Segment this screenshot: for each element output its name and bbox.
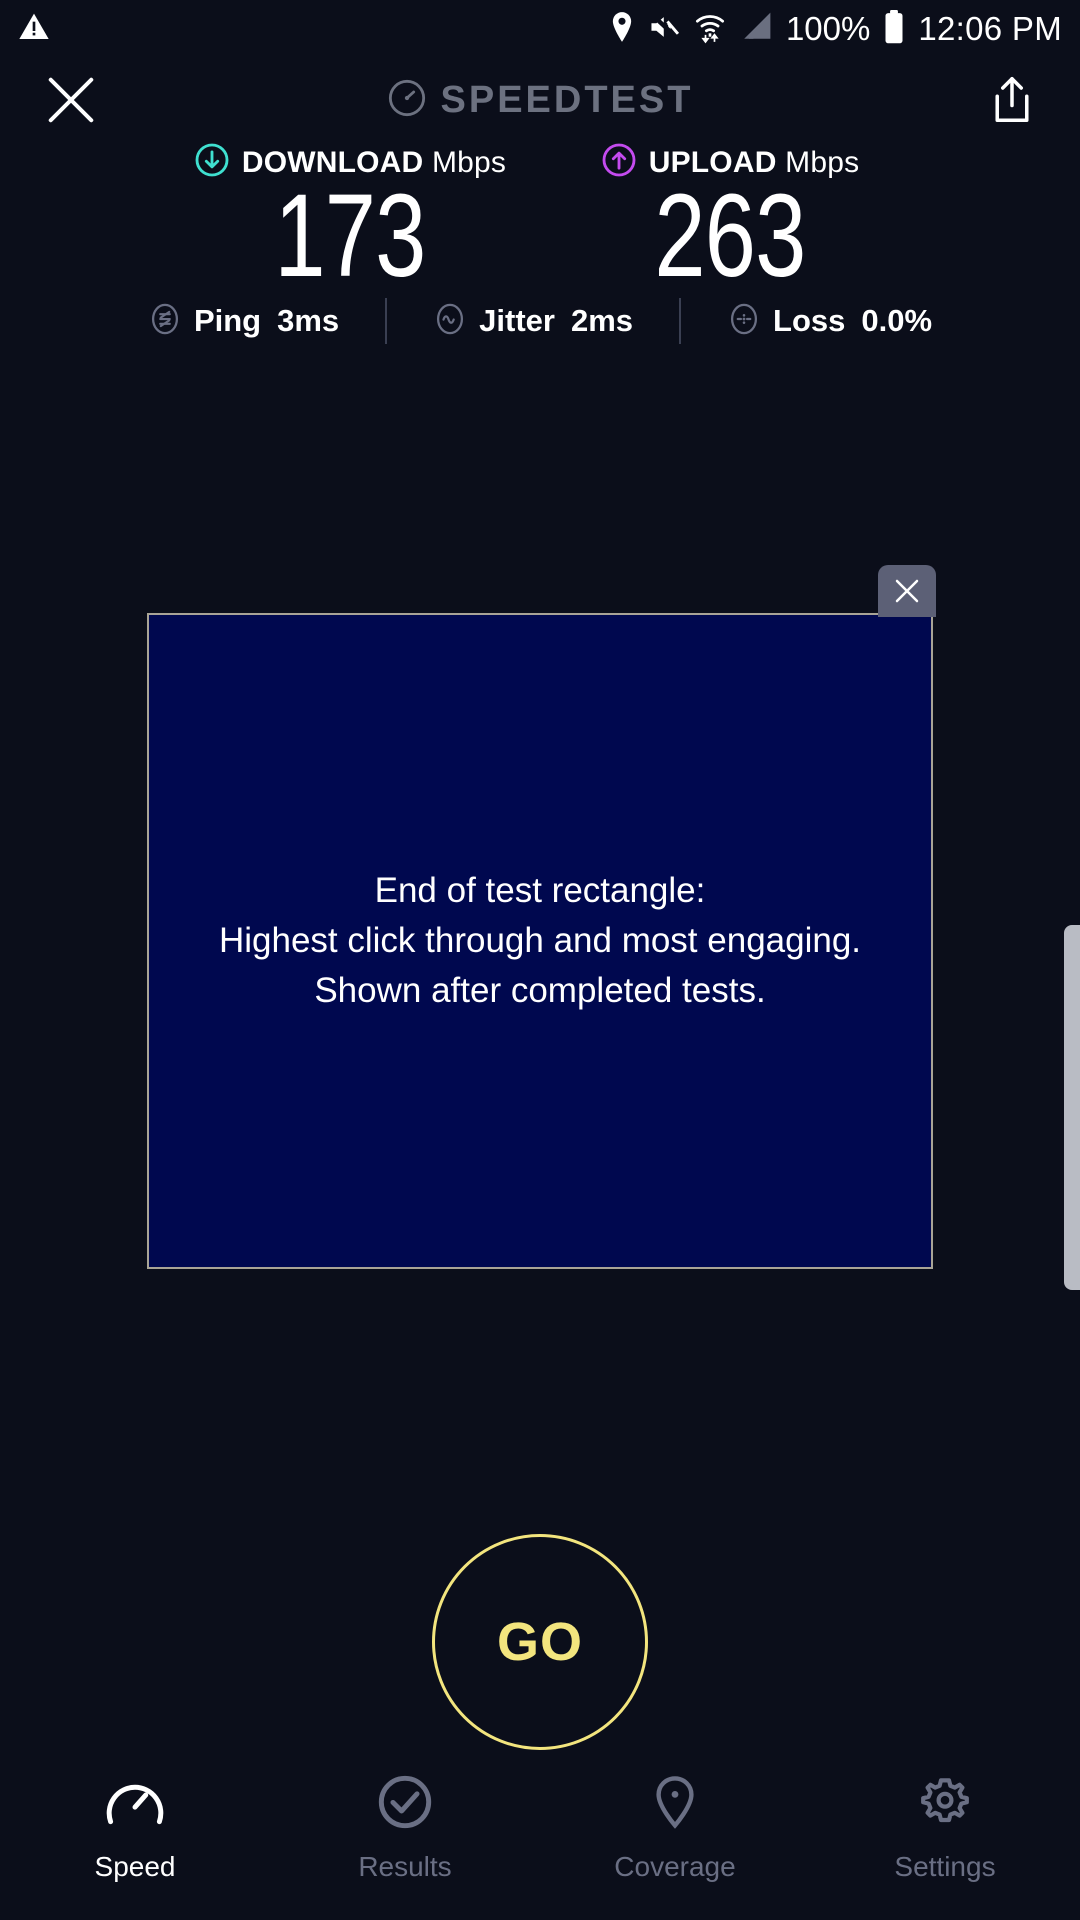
tab-settings[interactable]: Settings <box>810 1774 1080 1883</box>
arrow-up-circle-icon <box>601 142 637 183</box>
status-bar-left <box>18 11 50 48</box>
battery-full-icon <box>883 10 905 49</box>
location-pin-icon <box>608 11 636 48</box>
tab-speed-label: Speed <box>95 1851 176 1883</box>
tab-results-label: Results <box>358 1851 451 1883</box>
upload-value: 263 <box>654 177 805 295</box>
cell-signal-icon <box>739 11 773 48</box>
go-button[interactable]: GO <box>432 1534 648 1750</box>
tab-speed[interactable]: Speed <box>0 1774 270 1883</box>
map-pin-icon <box>644 1774 706 1835</box>
scrollbar-thumb[interactable] <box>1064 925 1080 1290</box>
check-circle-icon <box>374 1774 436 1835</box>
jitter-stat: Jitter 2ms <box>433 302 633 341</box>
ping-icon <box>148 302 182 341</box>
ad-text: End of test rectangle: Highest click thr… <box>165 866 916 1015</box>
loss-icon <box>727 302 761 341</box>
page-title: SPEEDTEST <box>441 79 694 122</box>
upload-metric: UPLOAD Mbps 263 <box>540 142 920 295</box>
tab-settings-label: Settings <box>894 1851 995 1883</box>
jitter-icon <box>433 302 467 341</box>
ad-line-3: Shown after completed tests. <box>165 966 916 1016</box>
loss-value: 0.0% <box>861 303 932 339</box>
bottom-tab-bar: Speed Results Coverage Settings <box>0 1760 1080 1920</box>
download-value: 173 <box>274 177 425 295</box>
jitter-value: 2ms <box>571 303 633 339</box>
stat-divider <box>679 298 681 344</box>
battery-percent: 100% <box>786 10 870 48</box>
download-upload-row: DOWNLOAD Mbps 173 UPLOAD Mbps 263 <box>0 142 1080 295</box>
app-header: SPEEDTEST <box>0 58 1080 142</box>
speedtest-app: 100% 12:06 PM SPEEDTEST <box>0 0 1080 1920</box>
loss-stat: Loss 0.0% <box>727 302 932 341</box>
gear-icon <box>914 1774 976 1835</box>
share-icon <box>991 76 1033 124</box>
jitter-label: Jitter <box>479 303 555 339</box>
app-title-block: SPEEDTEST <box>0 58 1080 142</box>
close-button[interactable] <box>40 69 102 131</box>
wifi-transfer-icon <box>694 10 726 49</box>
status-bar: 100% 12:06 PM <box>0 0 1080 58</box>
results-summary: DOWNLOAD Mbps 173 UPLOAD Mbps 263 <box>0 142 1080 295</box>
loss-label: Loss <box>773 303 845 339</box>
tab-results[interactable]: Results <box>270 1774 540 1883</box>
close-icon <box>44 73 98 127</box>
tab-coverage-label: Coverage <box>614 1851 735 1883</box>
tab-coverage[interactable]: Coverage <box>540 1774 810 1883</box>
ad-line-2: Highest click through and most engaging. <box>165 916 916 966</box>
advertisement-banner[interactable]: End of test rectangle: Highest click thr… <box>147 613 933 1269</box>
ping-stat: Ping 3ms <box>148 302 339 341</box>
ping-label: Ping <box>194 303 261 339</box>
connection-stats-row: Ping 3ms Jitter 2ms Loss 0.0% <box>0 290 1080 352</box>
download-metric: DOWNLOAD Mbps 173 <box>160 142 540 295</box>
status-bar-right: 100% 12:06 PM <box>608 10 1062 49</box>
ad-close-button[interactable] <box>878 565 936 617</box>
mute-icon <box>649 12 681 47</box>
ping-value: 3ms <box>277 303 339 339</box>
ad-close-icon <box>892 576 922 606</box>
speedometer-icon <box>104 1774 166 1835</box>
go-button-label: GO <box>497 1611 583 1673</box>
status-bar-clock: 12:06 PM <box>918 10 1062 48</box>
share-button[interactable] <box>984 69 1040 131</box>
arrow-down-circle-icon <box>194 142 230 183</box>
speedtest-gauge-icon <box>387 78 427 123</box>
warning-triangle-icon <box>18 11 50 48</box>
stat-divider <box>385 298 387 344</box>
ad-line-1: End of test rectangle: <box>165 866 916 916</box>
